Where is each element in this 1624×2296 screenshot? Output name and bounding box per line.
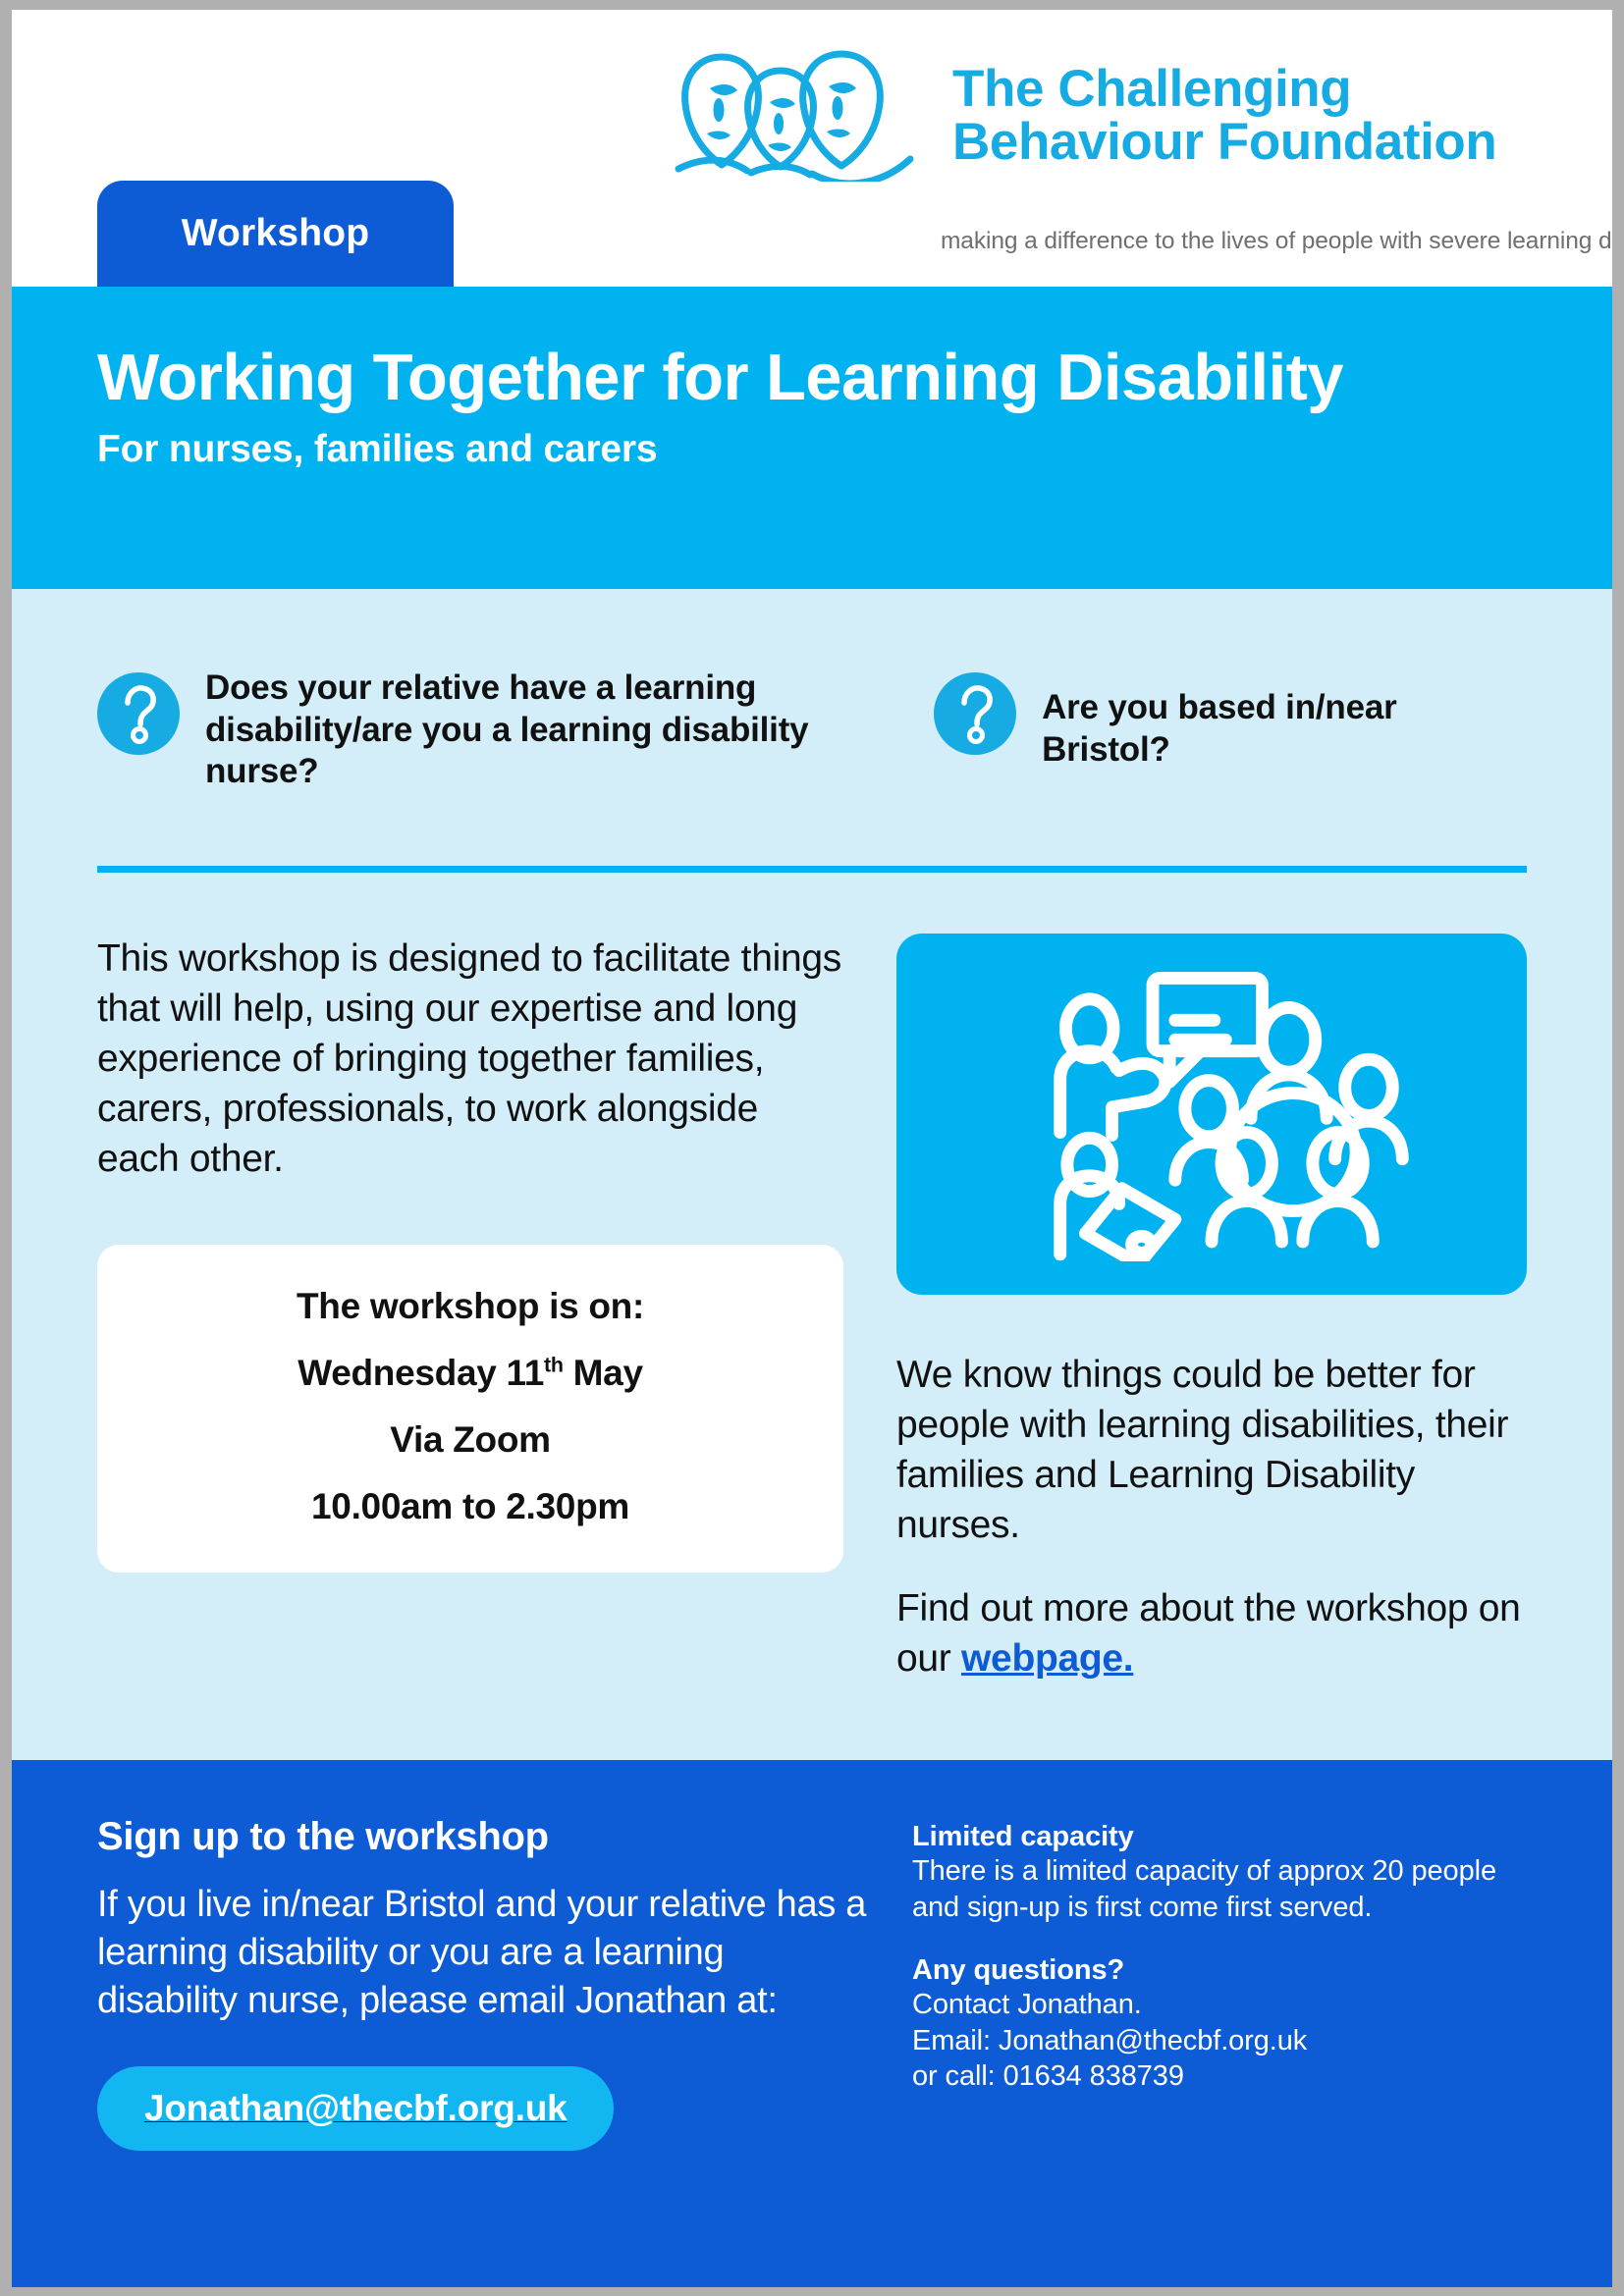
title-banner: Working Together for Learning Disability… — [12, 287, 1612, 589]
contact-line-1: Contact Jonathan. — [912, 1987, 1527, 2023]
header: Workshop — [12, 10, 1612, 287]
contact-line-3: or call: 01634 838739 — [912, 2058, 1527, 2095]
footer-left: Sign up to the workshop If you live in/n… — [97, 1815, 873, 2287]
questions-row: Does your relative have a learning disab… — [97, 589, 1527, 793]
date-day: Wednesday 11 — [298, 1353, 544, 1393]
logo-line-1: The Challenging — [952, 63, 1496, 116]
intro-paragraph: This workshop is designed to facilitate … — [97, 934, 843, 1184]
date-ordinal-suffix: th — [544, 1354, 564, 1377]
illustration-panel — [896, 934, 1527, 1295]
signup-text: If you live in/near Bristol and your rel… — [97, 1881, 873, 2025]
page-title: Working Together for Learning Disability — [97, 344, 1612, 412]
page-subtitle: For nurses, families and carers — [97, 428, 1612, 471]
workshop-tab[interactable]: Workshop — [97, 181, 454, 287]
questions-heading: Any questions? — [912, 1954, 1527, 1987]
date-card-line-1: The workshop is on: — [127, 1286, 814, 1327]
capacity-block: Limited capacity There is a limited capa… — [912, 1821, 1527, 1925]
logo-tagline: making a difference to the lives of peop… — [941, 228, 1612, 255]
right-paragraph: We know things could be better for peopl… — [896, 1350, 1527, 1550]
question-text: Does your relative have a learning disab… — [205, 667, 863, 793]
question-mark-icon — [97, 672, 180, 755]
question-item: Are you based in/near Bristol? — [934, 667, 1527, 793]
findout-paragraph: Find out more about the workshop on our … — [896, 1583, 1527, 1683]
section-divider — [97, 866, 1527, 873]
email-pill-button[interactable]: Jonathan@thecbf.org.uk — [97, 2066, 614, 2151]
right-column: We know things could be better for peopl… — [896, 934, 1527, 1683]
right-text-block: We know things could be better for peopl… — [896, 1350, 1527, 1683]
email-pill-label: Jonathan@thecbf.org.uk — [144, 2088, 567, 2128]
question-item: Does your relative have a learning disab… — [97, 667, 863, 793]
content-columns: This workshop is designed to facilitate … — [97, 934, 1527, 1683]
organisation-logo: The Challenging Behaviour Foundation mak… — [675, 41, 1548, 238]
capacity-text: There is a limited capacity of approx 20… — [912, 1853, 1527, 1925]
poster-page: Workshop — [12, 10, 1612, 2287]
logo-line-2: Behaviour Foundation — [952, 116, 1496, 169]
date-card-line-3: Via Zoom — [127, 1419, 814, 1461]
body-section: Does your relative have a learning disab… — [12, 589, 1612, 1760]
date-card: The workshop is on: Wednesday 11th May V… — [97, 1245, 843, 1573]
footer-right: Limited capacity There is a limited capa… — [912, 1815, 1527, 2287]
three-faces-logo-icon — [675, 49, 940, 182]
webpage-link[interactable]: webpage. — [961, 1637, 1133, 1680]
date-month: May — [564, 1353, 643, 1393]
workshop-tab-label: Workshop — [182, 212, 370, 255]
question-text: Are you based in/near Bristol? — [1042, 667, 1527, 771]
questions-block: Any questions? Contact Jonathan. Email: … — [912, 1954, 1527, 2095]
capacity-heading: Limited capacity — [912, 1821, 1527, 1853]
date-card-line-4: 10.00am to 2.30pm — [127, 1486, 814, 1527]
date-card-line-2: Wednesday 11th May — [127, 1353, 814, 1394]
footer-section: Sign up to the workshop If you live in/n… — [12, 1760, 1612, 2287]
question-mark-icon — [934, 672, 1016, 755]
contact-line-2: Email: Jonathan@thecbf.org.uk — [912, 2023, 1527, 2059]
signup-heading: Sign up to the workshop — [97, 1815, 873, 1859]
left-column: This workshop is designed to facilitate … — [97, 934, 843, 1683]
workshop-meeting-icon — [1001, 967, 1423, 1261]
logo-wordmark: The Challenging Behaviour Foundation mak… — [952, 63, 1496, 169]
